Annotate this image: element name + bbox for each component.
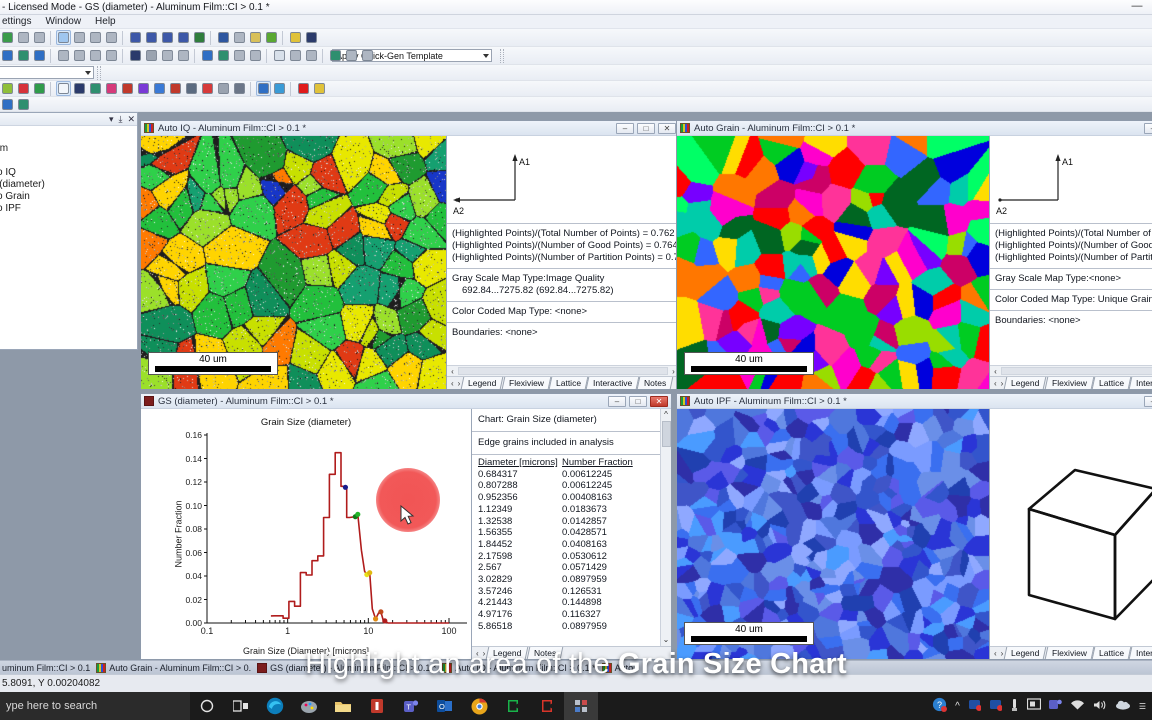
cell-diameter: 1.32538 xyxy=(478,516,562,528)
chart-legend-note-section: Edge grains included in analysis xyxy=(472,432,671,455)
table-row[interactable]: 1.325380.0142857 xyxy=(478,516,665,528)
tab-flexiview[interactable]: Flexiview xyxy=(501,377,551,389)
scroll-up-arrow[interactable]: ^ xyxy=(664,409,668,420)
color-coded-map-type: Color Coded Map Type: <none> xyxy=(452,306,674,318)
toolbar-separator xyxy=(290,82,294,96)
scale-bar: 40 um xyxy=(684,622,814,645)
window-minimize-button[interactable]: — xyxy=(1128,2,1146,13)
project-tree-body: num Film > 0.1 Auto IQ GS (diameter) Aut… xyxy=(0,126,137,226)
map-icon xyxy=(680,396,690,406)
tree-item-aluminum-film[interactable]: num Film xyxy=(0,142,137,154)
stat-good-points: (Highlighted Points)/(Number of Good Poi… xyxy=(452,240,674,252)
tab-lattice[interactable]: Lattice xyxy=(1091,377,1131,389)
auto-grain-boundaries-section: Boundaries: <none> xyxy=(990,311,1152,331)
maximize-button[interactable]: □ xyxy=(637,123,655,134)
cascade-icon[interactable] xyxy=(176,30,191,45)
cell-diameter: 4.21443 xyxy=(478,597,562,609)
tree-item-data[interactable]: data xyxy=(0,214,137,226)
gs-chart-legend-pane: Chart: Grain Size (diameter) Edge grains… xyxy=(471,409,671,659)
cell-diameter: 0.807288 xyxy=(478,480,562,492)
cloud-icon[interactable] xyxy=(1115,699,1131,713)
toolbar-secondary: Apply Quick-Gen Template xyxy=(0,47,1152,65)
application-title: - Licensed Mode - GS (diameter) - Alumin… xyxy=(0,2,270,13)
toolbar-separator xyxy=(122,49,126,63)
point-icon[interactable] xyxy=(56,81,71,96)
maximize-button[interactable]: □ xyxy=(629,396,647,407)
map-view-icon[interactable] xyxy=(192,30,207,45)
scale-bar-label: 40 um xyxy=(155,354,271,365)
task-view-icon[interactable] xyxy=(224,692,258,720)
tab-lattice[interactable]: Lattice xyxy=(548,377,588,389)
cell-diameter: 1.56355 xyxy=(478,527,562,539)
toolbar-separator xyxy=(210,31,214,45)
tree-item-label: Auto Grain xyxy=(0,191,30,202)
auto-iq-map-image[interactable]: 40 um xyxy=(141,136,446,389)
tree-item-label: num Film xyxy=(0,143,8,154)
tile-h-icon[interactable] xyxy=(144,30,159,45)
grayscale-range: 692.84...7275.82 (692.84...7275.82) xyxy=(452,285,674,297)
boundaries-value: Boundaries: <none> xyxy=(452,327,674,339)
window-auto-grain-titlebar[interactable]: Auto Grain - Aluminum Film::CI > 0.1 * – xyxy=(677,121,1152,136)
window-gs-chart-titlebar[interactable]: GS (diameter) - Aluminum Film::CI > 0.1 … xyxy=(141,394,671,409)
coordinate-readout: 5.8091, Y 0.00204082 xyxy=(2,678,100,689)
tree-item-label: GS (diameter) xyxy=(0,179,45,190)
map-c-icon[interactable] xyxy=(32,48,47,63)
toolbar-extra xyxy=(0,97,1152,112)
window-gs-chart[interactable]: GS (diameter) - Aluminum Film::CI > 0.1 … xyxy=(140,393,672,660)
windows-taskbar: ype here to search T O ? ^ xyxy=(0,692,1152,720)
tab-notes[interactable]: Notes xyxy=(637,377,674,389)
pie-icon[interactable] xyxy=(32,81,47,96)
cell-number-fraction: 0.0142857 xyxy=(562,516,646,528)
chart-icon xyxy=(257,663,267,673)
boundaries-value: Boundaries: <none> xyxy=(995,315,1152,327)
colorbar-icon[interactable] xyxy=(0,97,15,112)
task-aluminum-film[interactable]: uminum Film::CI > 0.1 xyxy=(2,663,90,673)
table-row[interactable]: 0.6843170.00612245 xyxy=(478,469,665,481)
cell-number-fraction: 0.00612245 xyxy=(562,469,646,481)
window-auto-ipf-titlebar[interactable]: Auto IPF - Aluminum Film::CI > 0.1 * – xyxy=(677,394,1152,409)
cell-number-fraction: 0.00408163 xyxy=(562,492,646,504)
system-tray: ? ^ ☰ xyxy=(932,697,1152,715)
table-vertical-scrollbar[interactable]: ^ ⌄ xyxy=(660,409,671,659)
toolbar-separator xyxy=(322,49,326,63)
hint-icon[interactable] xyxy=(288,30,303,45)
cell-number-fraction: 0.126531 xyxy=(562,586,646,598)
gs-chart-tabstrip[interactable]: ‹ › Legend Notes xyxy=(472,646,671,659)
grid-icon[interactable] xyxy=(232,30,247,45)
task-auto-ipf[interactable]: Auto xyxy=(602,663,634,673)
minimize-button[interactable]: – xyxy=(1144,123,1152,134)
cell-number-fraction: 0.0530612 xyxy=(562,551,646,563)
scroll-left-arrow[interactable]: ‹ xyxy=(990,367,1001,376)
scale-bar-line xyxy=(691,366,807,372)
scroll-track[interactable] xyxy=(458,367,668,375)
scale-bar-label: 40 um xyxy=(691,624,807,635)
tree-item-label: Auto IPF xyxy=(0,203,21,214)
tree-item-auto-grain[interactable]: Auto Grain xyxy=(0,190,137,202)
table-row[interactable]: 4.971760.116327 xyxy=(478,609,665,621)
taskbar-icons: T O xyxy=(190,692,598,720)
cell-number-fraction: 0.00612245 xyxy=(562,480,646,492)
form-gripper[interactable] xyxy=(97,66,101,80)
preview-icon[interactable] xyxy=(32,30,47,45)
window-auto-ipf-title: Auto IPF - Aluminum Film::CI > 0.1 * xyxy=(694,396,847,407)
cell-diameter: 3.57246 xyxy=(478,586,562,598)
zoom-out-icon[interactable] xyxy=(88,30,103,45)
unit-cell-cube-diagram xyxy=(996,427,1152,627)
cell-diameter: 2.567 xyxy=(478,562,562,574)
save-c-icon[interactable] xyxy=(104,48,119,63)
tab-legend[interactable]: Legend xyxy=(1004,377,1047,389)
tab-notes[interactable]: Notes xyxy=(526,647,563,659)
chevron-down-icon[interactable]: ▾ xyxy=(109,114,114,125)
camera-green-icon[interactable] xyxy=(496,692,530,720)
svg-text:T: T xyxy=(406,703,411,712)
table-row[interactable]: 5.865180.0897959 xyxy=(478,621,665,633)
toolbar-form-row: ort form xyxy=(0,65,1152,81)
paint-icon[interactable] xyxy=(292,692,326,720)
pin-icon[interactable]: ⤓ xyxy=(118,114,122,125)
help-cursor-icon[interactable] xyxy=(304,30,319,45)
grayscale-map-type: Gray Scale Map Type:Image Quality xyxy=(452,273,674,285)
close-button[interactable]: ✕ xyxy=(658,123,676,134)
office-icon[interactable] xyxy=(360,692,394,720)
auto-grain-highlight-stats: (Highlighted Points)/(Total Number of Po… xyxy=(990,224,1152,269)
toolbar-gripper[interactable] xyxy=(500,49,504,63)
cell-diameter: 0.684317 xyxy=(478,469,562,481)
doc-b-icon[interactable] xyxy=(288,48,303,63)
cell-diameter: 4.97176 xyxy=(478,609,562,621)
tree-item-ci[interactable]: > 0.1 xyxy=(0,154,137,166)
table-row[interactable]: 3.028290.0897959 xyxy=(478,574,665,586)
display-icon[interactable] xyxy=(1027,698,1041,714)
minimize-button[interactable]: – xyxy=(616,123,634,134)
tab-interactive[interactable]: Interactive xyxy=(585,377,639,389)
cell-number-fraction: 0.0571429 xyxy=(562,562,646,574)
tab-interactive[interactable]: Interactiv xyxy=(1128,377,1152,389)
cell-number-fraction: 0.0897959 xyxy=(562,621,646,633)
toolbar-separator xyxy=(282,31,286,45)
paint-tool-icon[interactable] xyxy=(264,30,279,45)
map-icon xyxy=(602,663,612,673)
tab-prev-button[interactable]: ‹ xyxy=(449,379,456,388)
map-icon xyxy=(442,663,452,673)
map-b-icon[interactable] xyxy=(16,48,31,63)
tile-icon[interactable] xyxy=(128,30,143,45)
table-row[interactable]: 3.572460.126531 xyxy=(478,586,665,598)
gradient-icon[interactable] xyxy=(312,81,327,96)
window-auto-iq[interactable]: Auto IQ - Aluminum Film::CI > 0.1 * – □ … xyxy=(140,120,680,390)
window-auto-ipf[interactable]: Auto IPF - Aluminum Film::CI > 0.1 * – 4… xyxy=(676,393,1152,660)
cell-number-fraction: 0.0897959 xyxy=(562,574,646,586)
cell-diameter: 2.17598 xyxy=(478,551,562,563)
crosshair-icon[interactable] xyxy=(128,48,143,63)
scale-bar-line xyxy=(691,636,807,642)
triangle-icon[interactable] xyxy=(144,48,159,63)
auto-iq-legend-pane: A1 A2 (Highlighted Points)/(Total Number… xyxy=(446,136,679,389)
stat-total-points: (Highlighted Points)/(Total Number of Po… xyxy=(995,228,1152,240)
window-auto-iq-title: Auto IQ - Aluminum Film::CI > 0.1 * xyxy=(158,123,306,134)
scroll-thumb[interactable] xyxy=(662,421,671,447)
chart-legend-title: Chart: Grain Size (diameter) xyxy=(478,414,665,426)
map-icon xyxy=(96,663,106,673)
table-row[interactable]: 4.214430.144898 xyxy=(478,597,665,609)
cell-number-fraction: 0.116327 xyxy=(562,609,646,621)
task-gs-diameter[interactable]: GS (diameter) - Aluminum Film::CI > 0.1 … xyxy=(257,663,436,673)
doc-icon[interactable] xyxy=(272,48,287,63)
auto-ipf-tabstrip[interactable]: ‹ › Legend Flexiview Lattice Interactiv xyxy=(990,646,1152,659)
table-b-icon[interactable] xyxy=(344,48,359,63)
stat-good-points: (Highlighted Points)/(Number of Good Poi… xyxy=(995,240,1152,252)
toolbar-main xyxy=(0,29,1152,47)
toolbar-separator xyxy=(50,31,54,45)
column-header-number-fraction: Number Fraction xyxy=(562,457,646,469)
chart-icon xyxy=(144,396,154,406)
red-app2-icon[interactable] xyxy=(989,698,1002,714)
form-combo-value[interactable]: ort form xyxy=(0,66,94,79)
map-a-icon[interactable] xyxy=(0,48,15,63)
table-row[interactable]: 0.9523560.00408163 xyxy=(478,492,665,504)
arrow-up-icon[interactable] xyxy=(168,81,183,96)
tree-item-label: Auto IQ xyxy=(0,167,16,178)
menu-item-window[interactable]: Window xyxy=(45,16,81,27)
chart-legend-title-section: Chart: Grain Size (diameter) xyxy=(472,409,671,432)
burst-icon[interactable] xyxy=(200,81,215,96)
tree-item-gs-diameter[interactable]: GS (diameter) xyxy=(0,178,137,190)
grain-size-chart[interactable]: Grain Size (diameter) Number Fraction Gr… xyxy=(141,409,471,659)
toolbar-separator xyxy=(50,82,54,96)
edge-icon[interactable] xyxy=(258,692,292,720)
table-row[interactable]: 2.175980.0530612 xyxy=(478,551,665,563)
toolbar-separator xyxy=(250,82,254,96)
axis-a2-label: A2 xyxy=(453,206,464,216)
scroll-down-arrow[interactable]: ⌄ xyxy=(663,634,670,645)
cell-number-fraction: 0.0428571 xyxy=(562,527,646,539)
auto-ipf-legend-pane: ‹ › Legend Flexiview Lattice Interactiv xyxy=(989,409,1152,659)
zoom-in-icon[interactable] xyxy=(72,30,87,45)
tree-item-auto-iq[interactable]: Auto IQ xyxy=(0,166,137,178)
cell-diameter: 1.84452 xyxy=(478,539,562,551)
scale-bar-label: 40 um xyxy=(691,354,807,365)
search-placeholder: ype here to search xyxy=(6,700,97,712)
auto-iq-highlight-stats: (Highlighted Points)/(Total Number of Po… xyxy=(447,224,679,269)
scatter-b-icon[interactable] xyxy=(152,81,167,96)
ring-icon[interactable] xyxy=(256,81,271,96)
chart-data-table: Diameter [microns] Number Fraction 0.684… xyxy=(472,455,671,635)
teams-tray-icon[interactable] xyxy=(1049,698,1062,714)
red-fill-icon[interactable] xyxy=(296,81,311,96)
column-header-diameter: Diameter [microns] xyxy=(478,457,562,469)
print-icon[interactable] xyxy=(16,30,31,45)
save-b-icon[interactable] xyxy=(88,48,103,63)
tab-legend[interactable]: Legend xyxy=(461,377,504,389)
tab-interactive[interactable]: Interactiv xyxy=(1128,647,1152,659)
minimize-button[interactable]: – xyxy=(1144,396,1152,407)
wifi-icon[interactable] xyxy=(1070,699,1085,714)
svg-text:O: O xyxy=(439,702,445,711)
auto-grain-legend-pane: A1 A2 (Highlighted Points)/(Total Number… xyxy=(989,136,1152,389)
doc-c-icon[interactable] xyxy=(304,48,319,63)
table-row[interactable]: 1.563550.0428571 xyxy=(478,527,665,539)
tree-item-auto-ipf[interactable]: Auto IPF xyxy=(0,202,137,214)
frame-b-icon[interactable] xyxy=(248,48,263,63)
menu-bar: ettings Window Help xyxy=(0,15,1152,29)
auto-grain-map-image[interactable]: 40 um xyxy=(677,136,989,389)
auto-grain-colorcoded-section: Color Coded Map Type: Unique Grain Colo xyxy=(990,290,1152,311)
axis-a1-label: A1 xyxy=(1062,157,1073,167)
axis-orientation-diagram: A1 A2 xyxy=(990,136,1152,224)
shape-icon[interactable] xyxy=(104,81,119,96)
chevron-up-icon[interactable]: ^ xyxy=(955,701,960,712)
table-c-icon[interactable] xyxy=(360,48,375,63)
window-auto-iq-titlebar[interactable]: Auto IQ - Aluminum Film::CI > 0.1 * – □ … xyxy=(141,121,679,136)
window-auto-grain-title: Auto Grain - Aluminum Film::CI > 0.1 * xyxy=(694,123,855,134)
minimize-button[interactable]: – xyxy=(608,396,626,407)
teams-icon[interactable]: T xyxy=(394,692,428,720)
mdi-task-list: uminum Film::CI > 0.1 Auto Grain - Alumi… xyxy=(0,660,1152,674)
status-bar-coordinates: 5.8091, Y 0.00204082 xyxy=(0,674,1152,692)
cell-diameter: 1.12349 xyxy=(478,504,562,516)
usb-icon[interactable] xyxy=(1010,698,1019,715)
time-icon[interactable]: ☰ xyxy=(1139,702,1146,711)
auto-grain-grayscale-section: Gray Scale Map Type:<none> xyxy=(990,269,1152,290)
legend-horizontal-scrollbar[interactable]: ‹ › xyxy=(447,365,679,376)
cell-number-fraction: 0.144898 xyxy=(562,597,646,609)
new-icon[interactable] xyxy=(0,30,15,45)
pan-icon[interactable] xyxy=(56,30,71,45)
tab-lattice[interactable]: Lattice xyxy=(1091,647,1131,659)
scale-bar-line xyxy=(155,366,271,372)
close-button[interactable]: ✕ xyxy=(650,396,668,407)
map-icon xyxy=(680,123,690,133)
auto-grain-tabstrip[interactable]: ‹ › Legend Flexiview Lattice Interactiv xyxy=(990,376,1152,389)
frame-a-icon[interactable] xyxy=(232,48,247,63)
save-a-icon[interactable] xyxy=(72,48,87,63)
tab-prev-button[interactable]: ‹ xyxy=(474,649,481,658)
toolbar-separator xyxy=(122,31,126,45)
chart-tool-icon[interactable] xyxy=(216,30,231,45)
palette-icon[interactable] xyxy=(248,30,263,45)
stat-partition-points: (Highlighted Points)/(Number of Partitio… xyxy=(995,252,1152,264)
window-gs-chart-title: GS (diameter) - Aluminum Film::CI > 0.1 … xyxy=(158,396,334,407)
project-tree-header: ▾ ⤓ ✕ xyxy=(0,113,137,126)
table-row[interactable]: 1.123490.0183673 xyxy=(478,504,665,516)
folder-icon[interactable] xyxy=(326,692,360,720)
tab-prev-button[interactable]: ‹ xyxy=(992,379,999,388)
stat-partition-points: (Highlighted Points)/(Number of Partitio… xyxy=(452,252,674,264)
camera-red-icon[interactable] xyxy=(530,692,564,720)
auto-ipf-map-image[interactable]: 40 um xyxy=(677,409,989,659)
grayscale-map-type: Gray Scale Map Type:<none> xyxy=(995,273,1152,285)
cortana-icon[interactable] xyxy=(190,692,224,720)
select-icon[interactable] xyxy=(104,30,119,45)
tab-flexiview[interactable]: Flexiview xyxy=(1044,647,1094,659)
tab-prev-button[interactable]: ‹ xyxy=(992,649,999,658)
outlook-icon[interactable]: O xyxy=(428,692,462,720)
scroll-track[interactable] xyxy=(1001,367,1152,375)
scale-bar: 40 um xyxy=(684,352,814,375)
toolbar-separator xyxy=(266,49,270,63)
leaf-icon[interactable] xyxy=(0,81,15,96)
scroll-left-arrow[interactable]: ‹ xyxy=(447,367,458,376)
cell-number-fraction: 0.0183673 xyxy=(562,504,646,516)
color-coded-map-type: Color Coded Map Type: Unique Grain Colo xyxy=(995,294,1152,306)
scatter-a-icon[interactable] xyxy=(136,81,151,96)
help-icon[interactable]: ? xyxy=(932,697,947,715)
menu-item-help[interactable]: Help xyxy=(95,16,116,27)
chrome-icon[interactable] xyxy=(462,692,496,720)
tab-flexiview[interactable]: Flexiview xyxy=(1044,377,1094,389)
menu-item-settings[interactable]: ettings xyxy=(2,16,31,27)
axis-a2-label: A2 xyxy=(996,206,1007,216)
scale-bar: 40 um xyxy=(148,352,278,375)
application-titlebar: - Licensed Mode - GS (diameter) - Alumin… xyxy=(0,0,1152,15)
legend-horizontal-scrollbar[interactable]: ‹ xyxy=(990,365,1152,376)
toolbar-map-tools xyxy=(0,81,1152,97)
chart-legend-note: Edge grains included in analysis xyxy=(478,437,665,449)
auto-iq-grayscale-section: Gray Scale Map Type:Image Quality 692.84… xyxy=(447,269,679,302)
osm-icon[interactable] xyxy=(564,692,598,720)
stat-total-points: (Highlighted Points)/(Total Number of Po… xyxy=(452,228,674,240)
cell-number-fraction: 0.0408163 xyxy=(562,539,646,551)
auto-iq-tabstrip[interactable]: ‹ › Legend Flexiview Lattice Interactive… xyxy=(447,376,679,389)
table-row[interactable]: 2.5670.0571429 xyxy=(478,562,665,574)
table-row[interactable]: 0.8072880.00612245 xyxy=(478,480,665,492)
close-icon[interactable]: ✕ xyxy=(127,114,135,125)
target-icon[interactable] xyxy=(88,81,103,96)
table-icon[interactable] xyxy=(328,48,343,63)
cell-diameter: 3.02829 xyxy=(478,574,562,586)
smiley-icon[interactable] xyxy=(272,81,287,96)
star-red-icon[interactable] xyxy=(16,81,31,96)
auto-iq-colorcoded-section: Color Coded Map Type: <none> xyxy=(447,302,679,323)
circle-icon[interactable] xyxy=(72,81,87,96)
cell-diameter: 5.86518 xyxy=(478,621,562,633)
toolbar-separator xyxy=(194,49,198,63)
axis-orientation-diagram: A1 A2 xyxy=(447,136,679,224)
taskbar-search-input[interactable]: ype here to search xyxy=(0,692,190,720)
mountain-icon[interactable] xyxy=(216,48,231,63)
tools-icon[interactable] xyxy=(16,97,31,112)
window-auto-grain[interactable]: Auto Grain - Aluminum Film::CI > 0.1 * –… xyxy=(676,120,1152,390)
tab-legend[interactable]: Legend xyxy=(1004,647,1047,659)
circle-o-icon[interactable] xyxy=(216,81,231,96)
tile-v-icon[interactable] xyxy=(160,30,175,45)
histogram-icon[interactable] xyxy=(232,81,247,96)
task-auto-iq[interactable]: Auto IQ - Aluminum Film::CI > 0.1 * xyxy=(442,663,595,673)
people-icon[interactable] xyxy=(200,48,215,63)
table-header-row: Diameter [microns] Number Fraction xyxy=(478,457,665,469)
save-map-icon[interactable] xyxy=(56,48,71,63)
toolbar-separator xyxy=(50,49,54,63)
map-icon xyxy=(144,123,154,133)
img-a-icon[interactable] xyxy=(160,48,175,63)
table-row[interactable]: 1.844520.0408163 xyxy=(478,539,665,551)
volume-icon[interactable] xyxy=(1093,699,1107,714)
mouse-cursor xyxy=(400,505,418,527)
axis-a1-label: A1 xyxy=(519,157,530,167)
tab-legend[interactable]: Legend xyxy=(486,647,529,659)
task-auto-grain[interactable]: Auto Grain - Aluminum Film::CI > 0. xyxy=(96,663,251,673)
red-app-icon[interactable] xyxy=(968,698,981,714)
img-b-icon[interactable] xyxy=(176,48,191,63)
cell-diameter: 0.952356 xyxy=(478,492,562,504)
project-tree-panel: ▾ ⤓ ✕ num Film > 0.1 Auto IQ GS (diamete… xyxy=(0,112,138,350)
flag-icon[interactable] xyxy=(120,81,135,96)
auto-iq-boundaries-section: Boundaries: <none> xyxy=(447,323,679,343)
arrow-sm-icon[interactable] xyxy=(184,81,199,96)
